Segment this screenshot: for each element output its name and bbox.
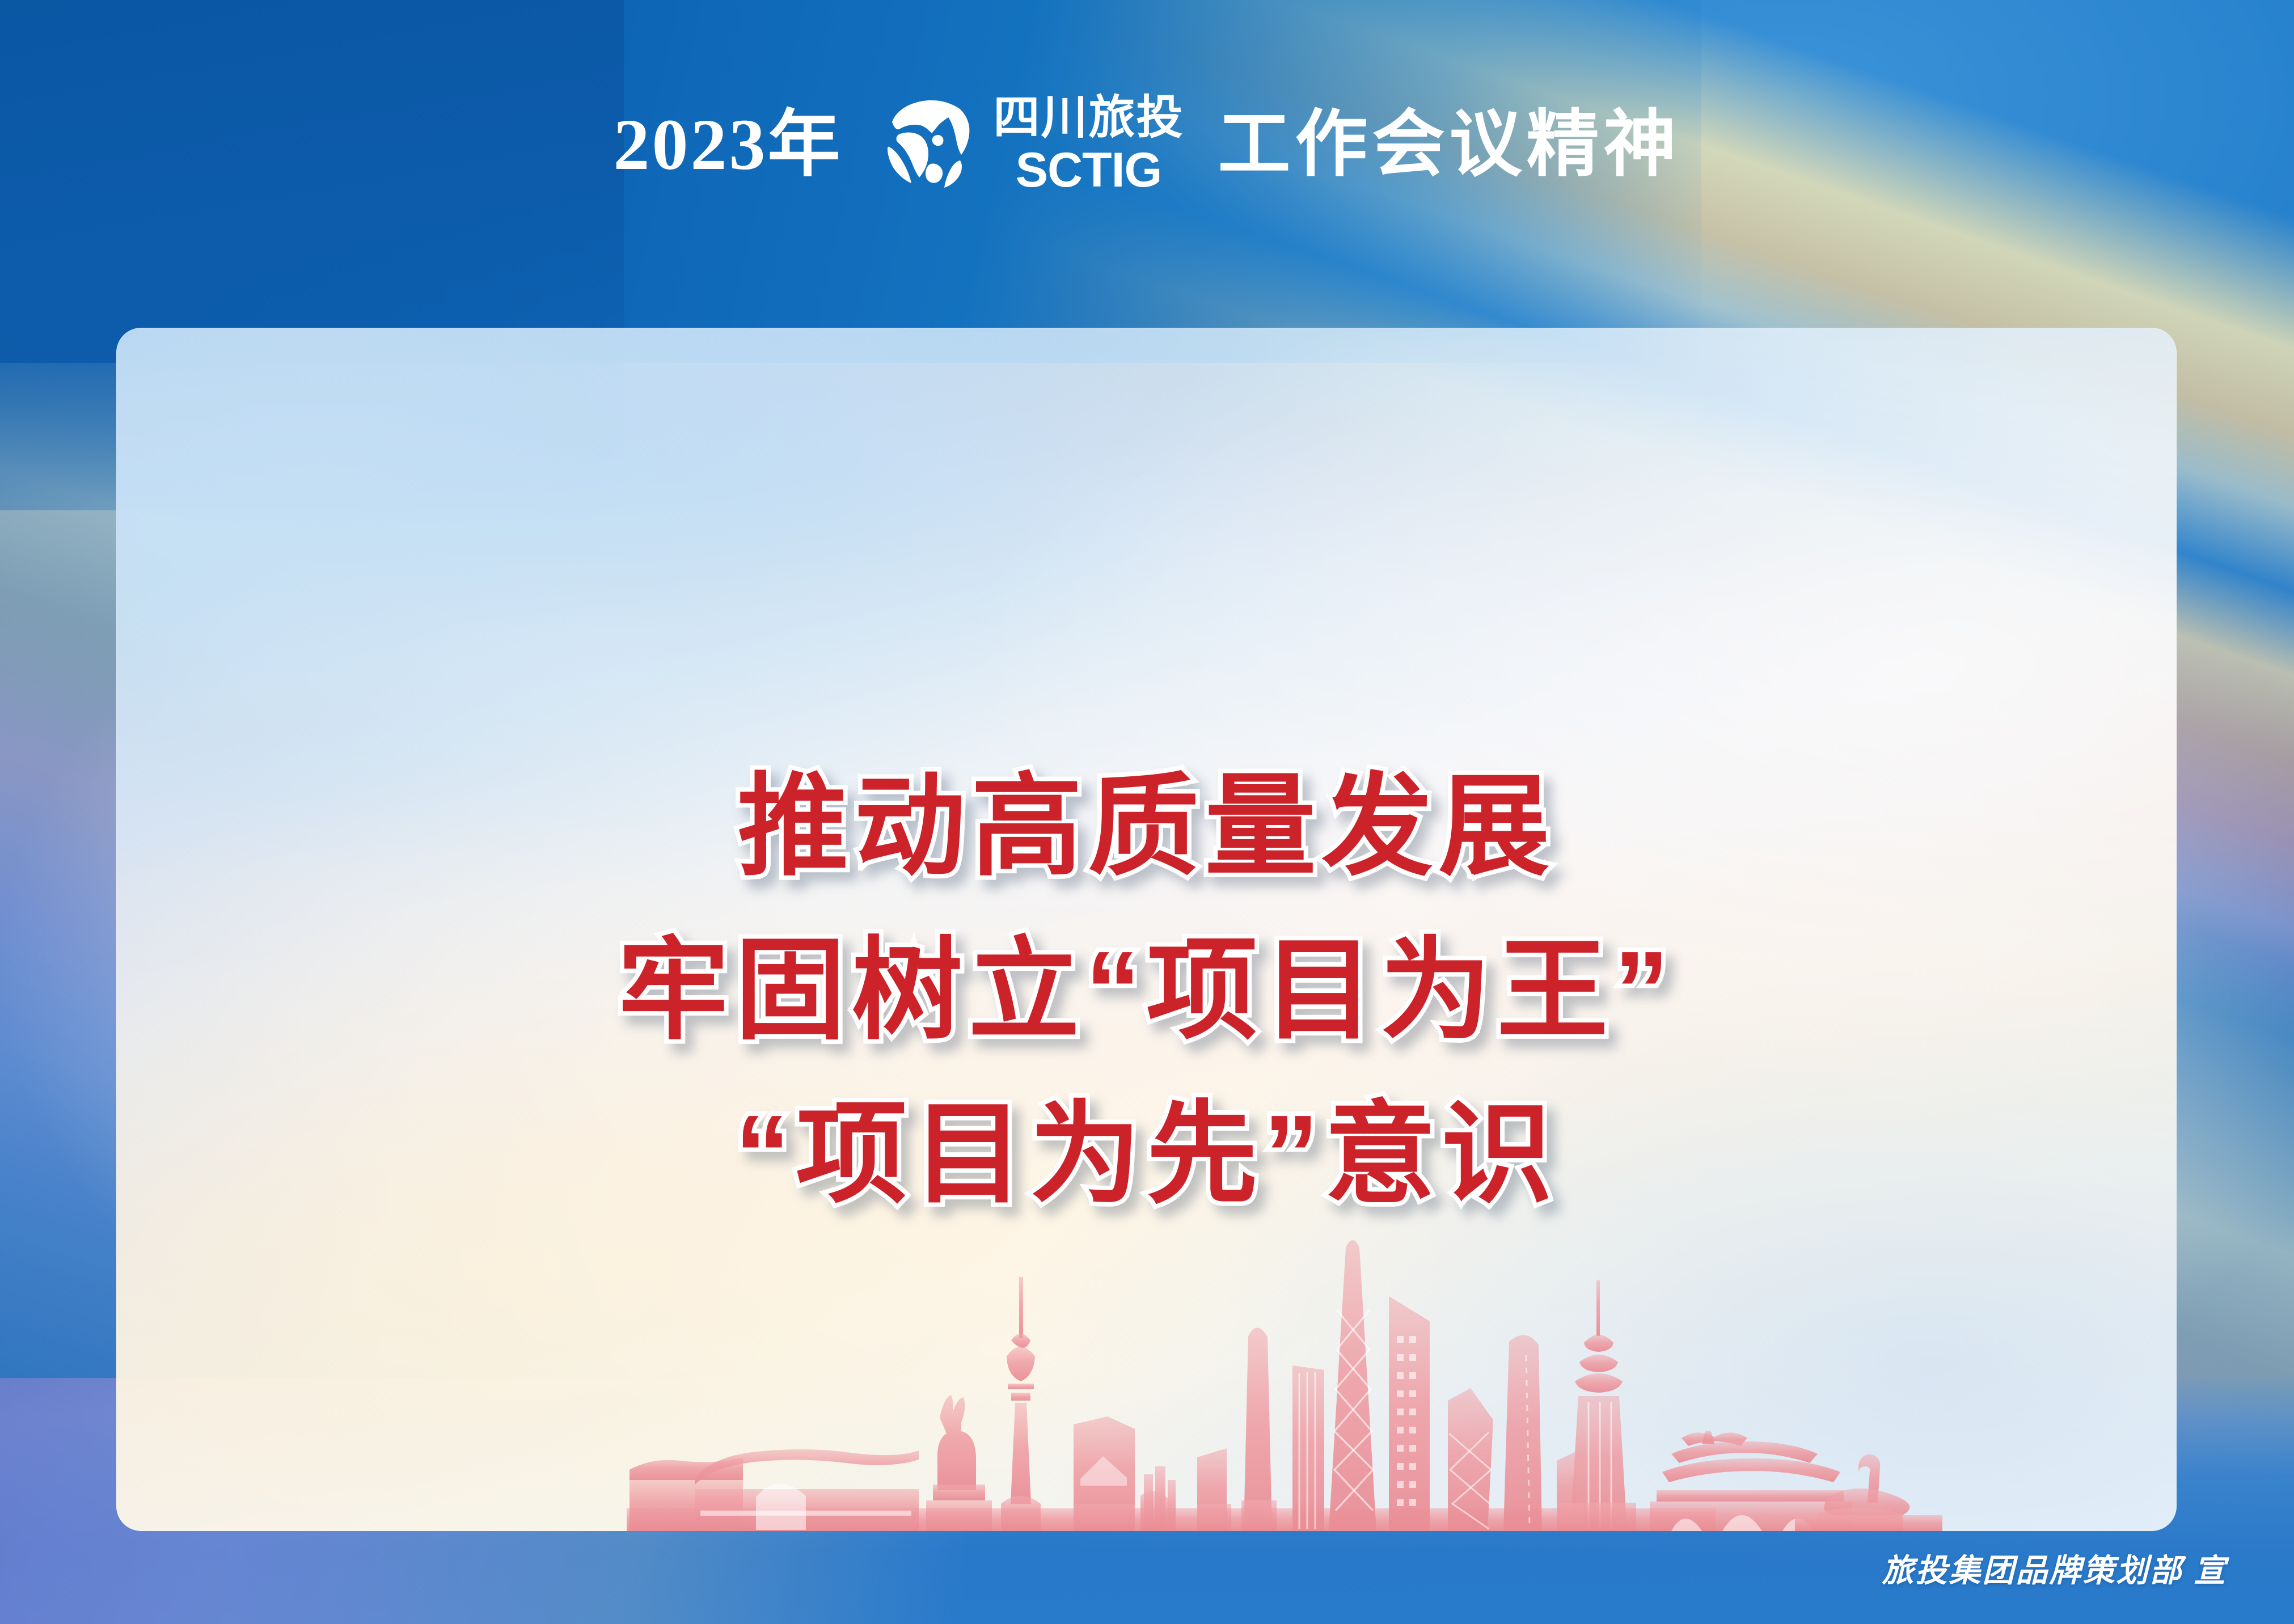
footer-credit: 旅投集团品牌策划部 宣 <box>1882 1545 2227 1591</box>
content-card: 推动高质量发展 牢固树立“项目为王” “项目为先”意识 <box>116 328 2177 1531</box>
year-label: 2023年 <box>613 108 842 181</box>
headline-block: 推动高质量发展 牢固树立“项目为王” “项目为先”意识 <box>116 759 2177 1222</box>
headline-line-3: “项目为先”意识 <box>116 1086 2177 1222</box>
logo-chinese-name: 四川旅投 <box>993 95 1184 141</box>
headline-line-2: 牢固树立“项目为王” <box>116 923 2177 1058</box>
logo-english-name: SCTIG <box>1016 146 1162 194</box>
meeting-title: 工作会议精神 <box>1218 108 1681 181</box>
poster-header: 2023年 四川旅投 SCTIG <box>0 74 2294 215</box>
globe-panda-icon <box>876 97 978 192</box>
logo-wordmark: 四川旅投 SCTIG <box>993 95 1184 194</box>
sctig-logo: 四川旅投 SCTIG <box>876 95 1184 194</box>
poster-canvas: 2023年 四川旅投 SCTIG <box>0 0 2294 1624</box>
headline-line-1: 推动高质量发展 <box>116 759 2177 894</box>
chengdu-skyline-silhouette <box>116 1213 2177 1531</box>
